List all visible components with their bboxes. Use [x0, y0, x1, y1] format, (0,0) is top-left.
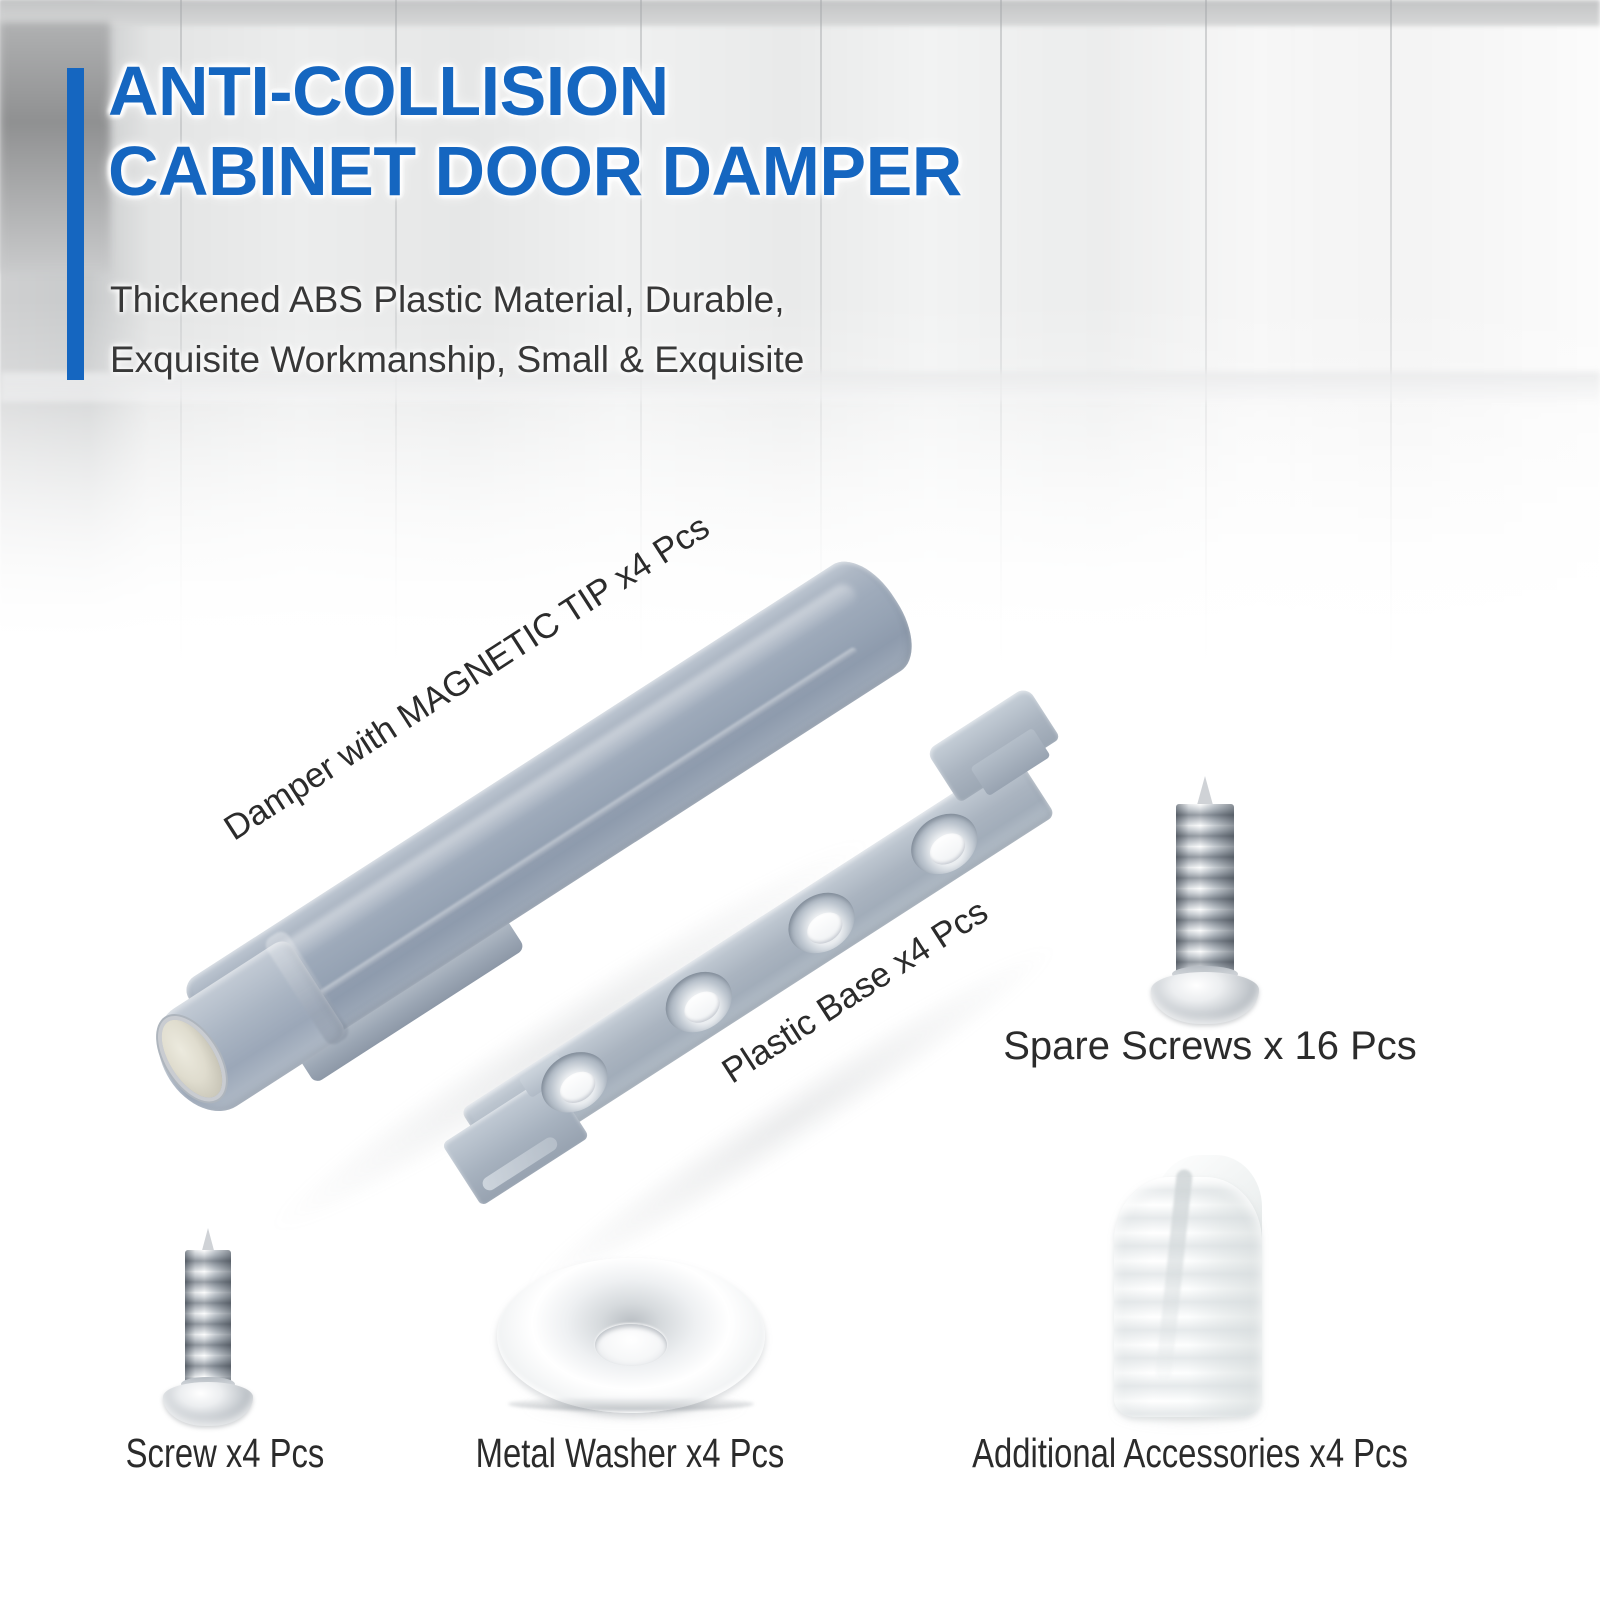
infographic-canvas: ANTI-COLLISION CABINET DOOR DAMPER Thick… [0, 0, 1600, 1600]
spare-screws-label: Spare Screws x 16 Pcs [935, 1024, 1485, 1069]
washer-center-hole [595, 1324, 667, 1366]
plastic-anchor-image [1102, 1155, 1274, 1417]
additional-accessories-label: Additional Accessories x4 Pcs [918, 1430, 1462, 1477]
screw-label: Screw x4 Pcs [81, 1430, 369, 1477]
accent-bar [67, 68, 84, 380]
screw-countersunk-head [1151, 972, 1259, 1024]
screw-countersunk-head [163, 1382, 253, 1426]
screw-thread-shaft [1176, 804, 1234, 982]
metal-washer-label: Metal Washer x4 Pcs [446, 1430, 814, 1477]
screw-thread-shaft [185, 1250, 231, 1390]
background-ceiling-strip [0, 0, 1600, 26]
spare-screw-image [1150, 776, 1260, 1026]
page-title: ANTI-COLLISION CABINET DOOR DAMPER [108, 52, 1288, 212]
screw-image [162, 1228, 254, 1428]
washer-rim-edge [508, 1397, 755, 1411]
metal-washer-image [497, 1258, 765, 1413]
background-dark-cabinet [0, 22, 110, 272]
page-subtitle: Thickened ABS Plastic Material, Durable,… [110, 270, 1170, 390]
